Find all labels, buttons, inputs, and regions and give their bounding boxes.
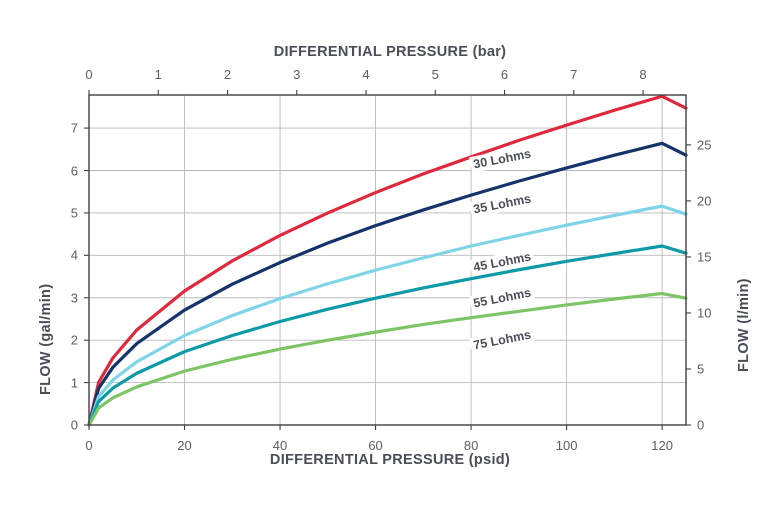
tick-label-bottom: 80: [464, 438, 478, 453]
tick-label-left: 7: [71, 121, 78, 136]
tick-label-right: 20: [697, 193, 711, 208]
tick-label-bottom: 20: [177, 438, 191, 453]
right-axis-title: FLOW (l/min): [736, 72, 752, 372]
tick-label-bottom: 100: [556, 438, 578, 453]
bottom-axis-title: DIFFERENTIAL PRESSURE (psid): [0, 452, 780, 468]
flow-vs-pressure-chart: DIFFERENTIAL PRESSURE (bar) DIFFERENTIAL…: [0, 0, 780, 520]
plot-background: [89, 95, 686, 425]
tick-label-top: 6: [501, 67, 508, 82]
tick-label-bottom: 0: [85, 438, 92, 453]
left-axis-title: FLOW (gal/min): [38, 95, 54, 395]
tick-label-left: 3: [71, 290, 78, 305]
tick-label-top: 7: [570, 67, 577, 82]
top-axis-title: DIFFERENTIAL PRESSURE (bar): [0, 44, 780, 60]
tick-label-left: 1: [71, 375, 78, 390]
tick-label-left: 4: [71, 248, 78, 263]
tick-label-top: 4: [362, 67, 369, 82]
tick-label-bottom: 40: [273, 438, 287, 453]
tick-label-left: 2: [71, 333, 78, 348]
tick-label-top: 8: [639, 67, 646, 82]
tick-label-left: 5: [71, 205, 78, 220]
tick-label-top: 0: [85, 67, 92, 82]
tick-label-top: 1: [155, 67, 162, 82]
tick-label-top: 5: [432, 67, 439, 82]
tick-label-bottom: 60: [368, 438, 382, 453]
tick-label-right: 5: [697, 361, 704, 376]
tick-label-left: 0: [71, 418, 78, 433]
tick-label-left: 6: [71, 163, 78, 178]
tick-label-bottom: 120: [651, 438, 673, 453]
tick-label-right: 0: [697, 418, 704, 433]
tick-label-right: 25: [697, 137, 711, 152]
tick-label-right: 15: [697, 249, 711, 264]
tick-label-top: 3: [293, 67, 300, 82]
tick-label-top: 2: [224, 67, 231, 82]
tick-label-right: 10: [697, 305, 711, 320]
